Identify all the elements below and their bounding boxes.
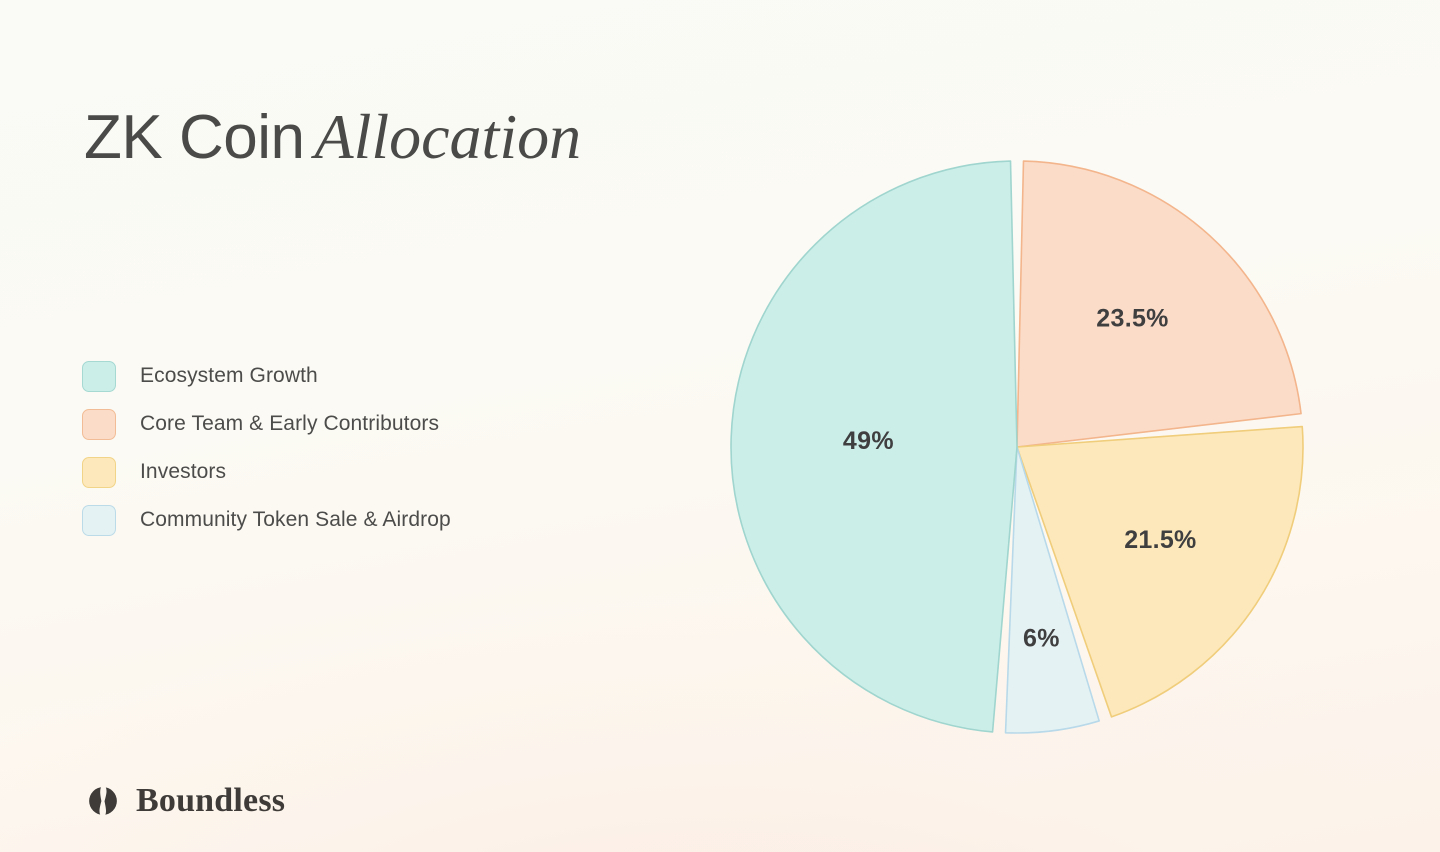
legend-item-label: Community Token Sale & Airdrop [140,508,451,532]
pie-chart-svg: 23.5%21.5%6%49% [727,157,1307,737]
page-title-emphasis: Allocation [304,101,581,172]
brand-footer: Boundless [84,782,285,820]
pie-slice-label: 6% [1023,625,1060,653]
legend-item-label: Core Team & Early Contributors [140,412,439,436]
pie-slice-label: 49% [843,427,894,455]
legend-swatch-icon [82,361,116,392]
legend-swatch-icon [82,505,116,536]
boundless-logo-icon [84,782,122,820]
pie-chart: 23.5%21.5%6%49% [727,157,1307,737]
legend-item-community-token-sale[interactable]: Community Token Sale & Airdrop [82,496,451,544]
page-title: ZK CoinAllocation [84,98,581,177]
legend-item-label: Ecosystem Growth [140,364,318,388]
chart-legend: Ecosystem Growth Core Team & Early Contr… [82,352,451,544]
legend-item-label: Investors [140,460,226,484]
legend-item-core-team[interactable]: Core Team & Early Contributors [82,400,451,448]
slide-canvas: ZK CoinAllocation Ecosystem Growth Core … [0,0,1440,852]
legend-item-ecosystem-growth[interactable]: Ecosystem Growth [82,352,451,400]
legend-swatch-icon [82,457,116,488]
legend-swatch-icon [82,409,116,440]
page-title-main: ZK Coin [84,103,304,172]
brand-name: Boundless [136,782,285,820]
pie-slice-group [731,161,1303,733]
legend-item-investors[interactable]: Investors [82,448,451,496]
pie-slice-label: 21.5% [1124,526,1196,554]
pie-slice-label: 23.5% [1096,305,1168,333]
